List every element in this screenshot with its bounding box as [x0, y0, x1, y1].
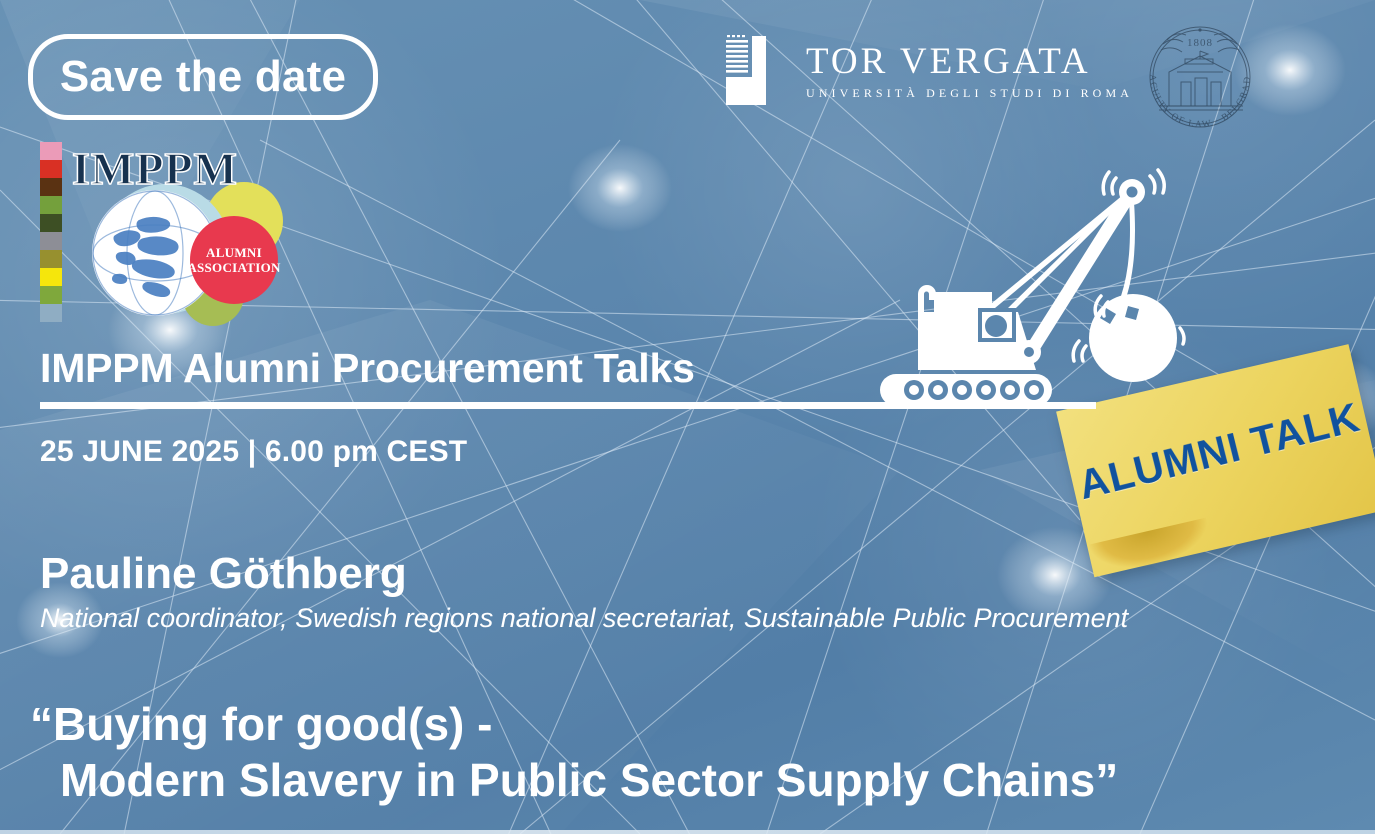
talk-title: “Buying for good(s) - Modern Slavery in …	[30, 696, 1118, 808]
tor-vergata-mark-icon	[726, 33, 784, 105]
alumni-association-badge: ALUMNI ASSOCIATION	[190, 216, 278, 304]
event-datetime: 25 JUNE 2025 | 6.00 pm CEST	[40, 437, 467, 467]
talk-title-line2: Modern Slavery in Public Sector Supply C…	[30, 752, 1118, 808]
tor-vergata-subtitle: UNIVERSITÀ DEGLI STUDI DI ROMA	[806, 87, 1133, 99]
title-divider	[40, 402, 1096, 409]
tor-vergata-name: TOR VERGATA	[806, 43, 1133, 80]
imppm-logo: ALUMNI ASSOCIATION IMPPM	[40, 142, 300, 324]
seal-year: 1808	[1187, 37, 1213, 49]
save-the-date-badge: Save the date	[28, 34, 378, 120]
imppm-wordmark: IMPPM	[72, 146, 238, 192]
speaker-role: National coordinator, Swedish regions na…	[40, 603, 1128, 633]
imppm-color-swatches	[40, 142, 62, 322]
tor-vergata-logo: TOR VERGATA UNIVERSITÀ DEGLI STUDI DI RO…	[726, 33, 1133, 105]
bottom-accent-band	[0, 830, 1375, 834]
page-title: IMPPM Alumni Procurement Talks	[40, 348, 695, 389]
alumni-badge-line2: ASSOCIATION	[187, 260, 280, 275]
wrecking-ball-crane-illustration	[880, 160, 1200, 410]
faculty-of-law-belgrade-seal: 1808 FACULTY OF LAW · BELGRADE	[1133, 14, 1267, 132]
alumni-badge-line1: ALUMNI	[206, 245, 262, 260]
save-the-date-label: Save the date	[60, 55, 346, 99]
speaker-name: Pauline Göthberg	[40, 552, 407, 596]
poster-canvas: Save the date	[0, 0, 1375, 834]
talk-title-line1: “Buying for good(s) -	[30, 696, 1118, 752]
